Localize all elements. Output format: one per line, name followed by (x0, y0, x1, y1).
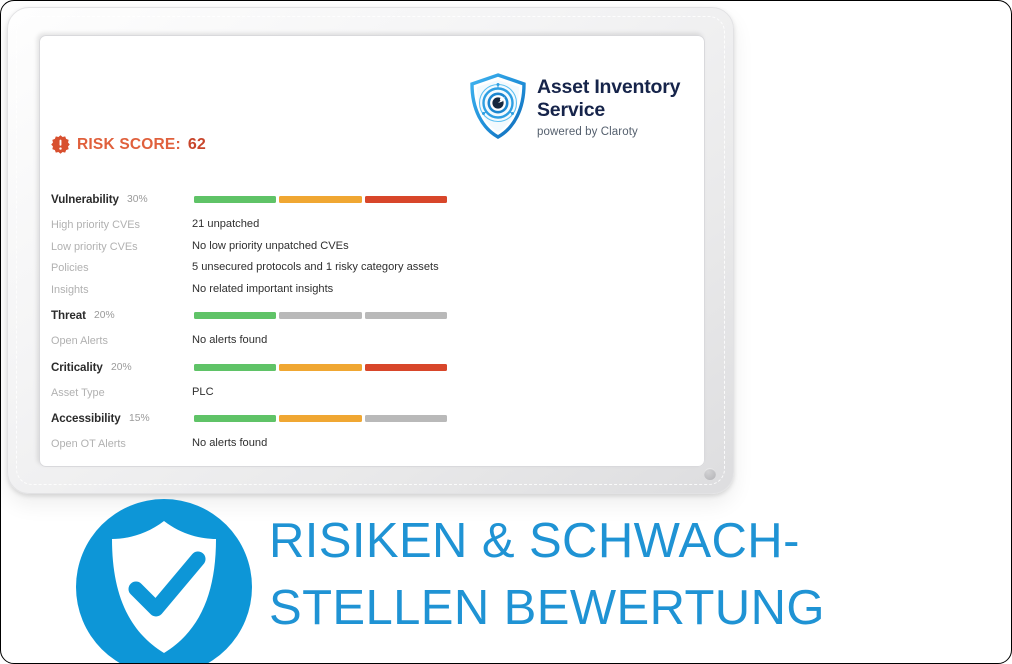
metric-name: Threat (51, 309, 86, 322)
metric-group: Accessibility15%Open OT AlertsNo alerts … (51, 410, 691, 457)
metric-header: Criticality20% (51, 359, 691, 381)
detail-value: No alerts found (192, 334, 267, 346)
bar-segment-green (194, 364, 276, 371)
risk-score-label: RISK SCORE: (77, 136, 181, 154)
bar-segment-red (365, 196, 447, 203)
metric-score-bar (194, 364, 447, 371)
bar-segment-red (365, 364, 447, 371)
metric-score-bar (194, 312, 447, 319)
home-button[interactable] (704, 468, 716, 480)
bar-segment-green (194, 312, 276, 319)
metric-header: Vulnerability30% (51, 191, 691, 213)
metrics-list: Vulnerability30%High priority CVEs21 unp… (51, 191, 691, 462)
metric-weight: 15% (129, 413, 150, 424)
detail-label: Asset Type (51, 387, 105, 399)
metric-header: Accessibility15% (51, 410, 691, 432)
risk-score: RISK SCORE: 62 (51, 135, 206, 154)
metric-group: Threat20%Open AlertsNo alerts found (51, 307, 691, 354)
bar-segment-green (194, 415, 276, 422)
metric-weight: 20% (111, 362, 132, 373)
bar-segment-gray (365, 312, 447, 319)
detail-value: No alerts found (192, 437, 267, 449)
detail-label: Open OT Alerts (51, 438, 126, 450)
metric-detail-rows: High priority CVEs21 unpatchedLow priori… (51, 216, 691, 302)
metric-group: Vulnerability30%High priority CVEs21 unp… (51, 191, 691, 302)
detail-label: High priority CVEs (51, 219, 140, 231)
tablet-device: Asset Inventory Service powered by Claro… (7, 7, 734, 494)
bar-segment-orange (279, 196, 361, 203)
metric-weight: 30% (127, 194, 148, 205)
metric-detail-row: Open OT AlertsNo alerts found (51, 435, 691, 457)
detail-label: Low priority CVEs (51, 241, 138, 253)
claroty-shield-lens-icon (468, 73, 528, 139)
logo-title: Asset Inventory Service (537, 76, 680, 121)
detail-value: 5 unsecured protocols and 1 risky catego… (192, 261, 439, 273)
risk-score-value: 62 (188, 136, 206, 154)
metric-detail-row: High priority CVEs21 unpatched (51, 216, 691, 238)
metric-name: Accessibility (51, 412, 121, 425)
metric-group: Criticality20%Asset TypePLC (51, 359, 691, 406)
metric-header: Threat20% (51, 307, 691, 329)
metric-detail-row: Policies5 unsecured protocols and 1 risk… (51, 259, 691, 281)
bar-segment-gray (365, 415, 447, 422)
banner-heading: RISIKEN & SCHWACH- STELLEN BEWERTUNG (269, 508, 1009, 641)
metric-detail-row: Open AlertsNo alerts found (51, 332, 691, 354)
metric-detail-row: Low priority CVEsNo low priority unpatch… (51, 238, 691, 260)
risk-report-card: Asset Inventory Service powered by Claro… (39, 35, 705, 467)
detail-value: No related important insights (192, 283, 333, 295)
bar-segment-green (194, 196, 276, 203)
bar-segment-gray (279, 312, 361, 319)
metric-detail-rows: Open OT AlertsNo alerts found (51, 435, 691, 457)
alert-badge-icon (51, 135, 70, 154)
detail-label: Insights (51, 284, 89, 296)
logo-subtitle: powered by Claroty (537, 126, 680, 138)
metric-detail-row: InsightsNo related important insights (51, 281, 691, 303)
shield-check-icon (74, 497, 254, 664)
page-root: Asset Inventory Service powered by Claro… (0, 0, 1012, 664)
bar-segment-orange (279, 415, 361, 422)
logo-text-block: Asset Inventory Service powered by Claro… (537, 73, 680, 138)
metric-score-bar (194, 415, 447, 422)
metric-detail-rows: Open AlertsNo alerts found (51, 332, 691, 354)
detail-value: 21 unpatched (192, 218, 259, 230)
metric-detail-rows: Asset TypePLC (51, 384, 691, 406)
metric-name: Vulnerability (51, 193, 119, 206)
detail-value: No low priority unpatched CVEs (192, 240, 349, 252)
metric-score-bar (194, 196, 447, 203)
bottom-banner: RISIKEN & SCHWACH- STELLEN BEWERTUNG (1, 490, 1012, 664)
detail-value: PLC (192, 386, 214, 398)
tablet-screen: Asset Inventory Service powered by Claro… (39, 35, 705, 467)
detail-label: Policies (51, 262, 89, 274)
metric-detail-row: Asset TypePLC (51, 384, 691, 406)
metric-weight: 20% (94, 310, 115, 321)
bar-segment-orange (279, 364, 361, 371)
product-logo: Asset Inventory Service powered by Claro… (468, 73, 680, 139)
metric-name: Criticality (51, 361, 103, 374)
detail-label: Open Alerts (51, 335, 108, 347)
